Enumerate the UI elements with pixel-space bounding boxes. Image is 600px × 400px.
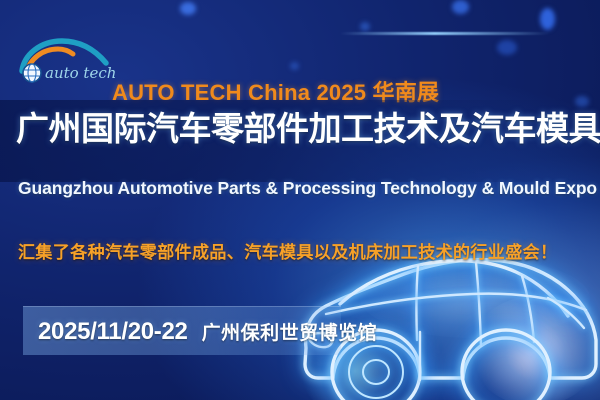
event-venue: 广州保利世贸博览馆 xyxy=(202,322,378,344)
tagline: 汇集了各种汽车零部件成品、汽车模具以及机床加工技术的行业盛会！ xyxy=(18,238,557,263)
auto-tech-car-globe-logo: auto tech xyxy=(14,33,112,85)
event-date: 2025/11/20-22 xyxy=(38,318,188,345)
page-subtitle: Guangzhou Automotive Parts & Processing … xyxy=(18,178,593,199)
svg-text:auto tech: auto tech xyxy=(45,64,116,82)
banner-header: auto tech AUTO TECH China 2025 华南展 xyxy=(0,33,600,85)
date-venue-text: 2025/11/20-22广州保利世贸博览馆 xyxy=(38,318,377,346)
light-streak xyxy=(340,32,550,35)
page-title: 广州国际汽车零部件加工技术及汽车模具展览会 xyxy=(16,112,591,145)
event-banner: auto tech AUTO TECH China 2025 华南展 广州国际汽… xyxy=(0,0,600,400)
